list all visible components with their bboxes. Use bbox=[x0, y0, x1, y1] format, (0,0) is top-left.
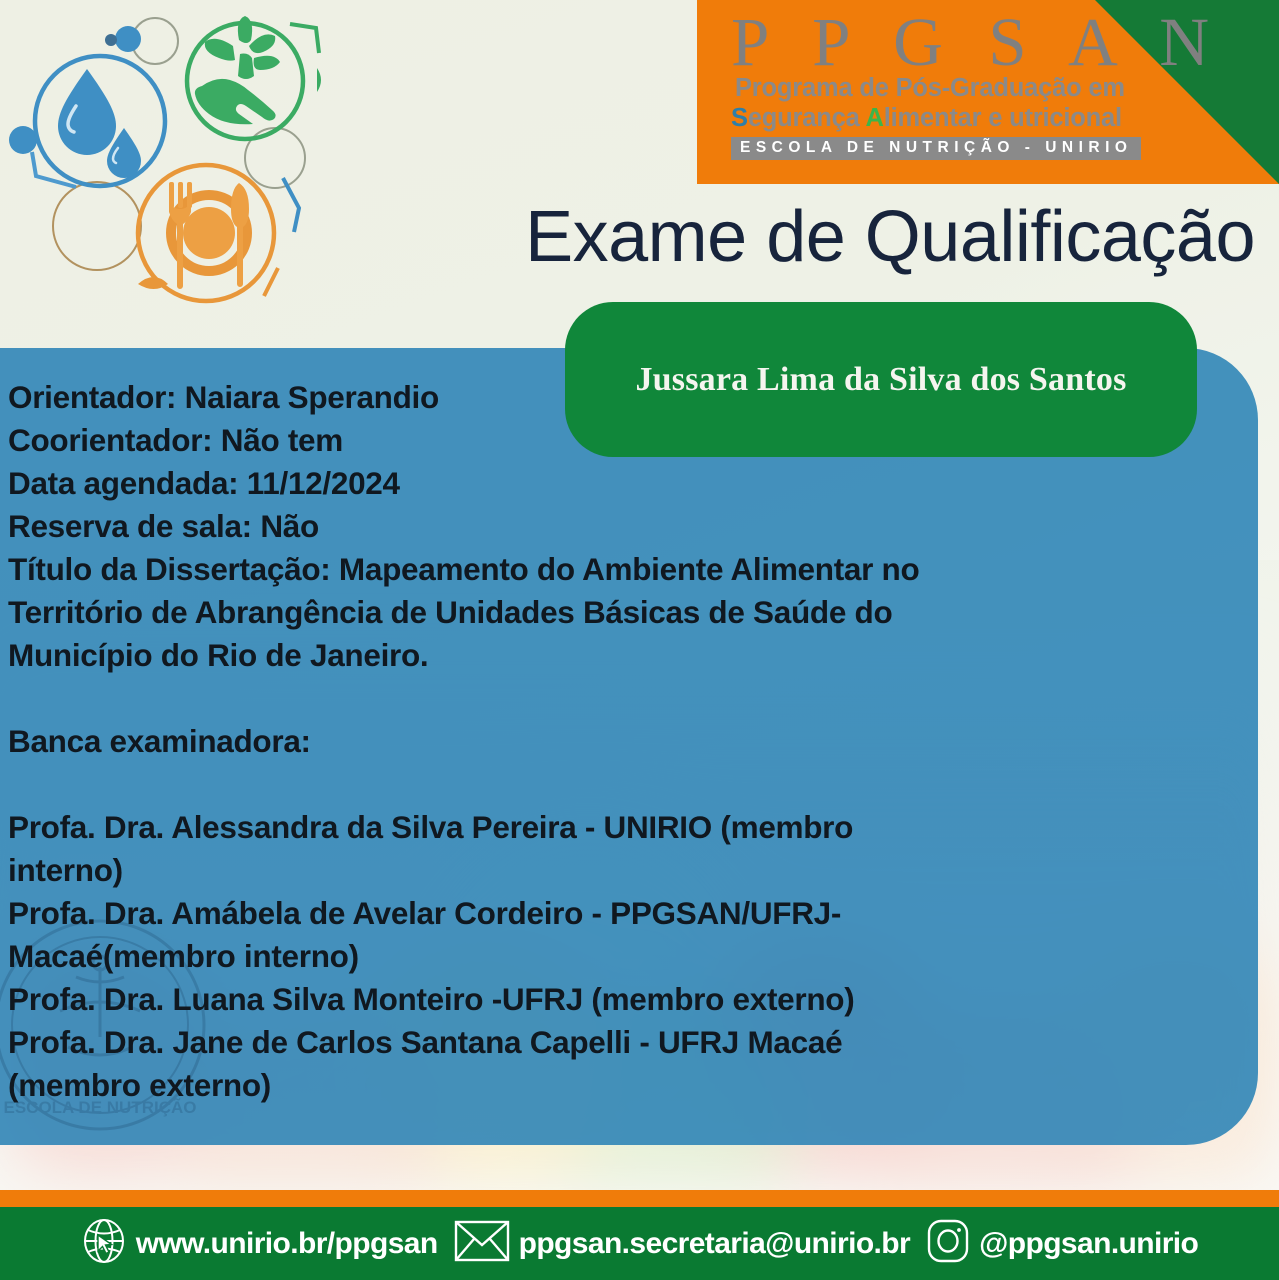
logo-a-letter: A bbox=[866, 104, 884, 132]
footer-orange-stripe bbox=[0, 1190, 1279, 1207]
board-member-line: Profa. Dra. Alessandra da Silva Pereira … bbox=[8, 806, 1038, 849]
dissertation-title-line-3: Município do Rio de Janeiro. bbox=[8, 634, 1038, 677]
board-heading: Banca examinadora: bbox=[8, 720, 1038, 763]
footer-instagram-item[interactable]: @ppgsan.unirio bbox=[926, 1218, 1198, 1269]
globe-cursor-icon bbox=[81, 1218, 127, 1269]
coadvisor-line: Coorientador: Não tem bbox=[8, 419, 1038, 462]
san-icons-svg bbox=[6, 6, 358, 324]
decor-dot-1 bbox=[115, 26, 141, 52]
scheduled-date-line: Data agendada: 11/12/2024 bbox=[8, 462, 1038, 505]
dissertation-title-line-2: Território de Abrangência de Unidades Bá… bbox=[8, 591, 1038, 634]
logo-school-bar: ESCOLA DE NUTRIÇÃO - UNIRIO bbox=[731, 137, 1141, 160]
logo-inner: P P G S A N Programa de Pós-Graduação em… bbox=[731, 6, 1151, 160]
water-drop-icon bbox=[58, 69, 116, 155]
board-member-line: Macaé(membro interno) bbox=[8, 935, 1038, 978]
ppgsan-logo-block: P P G S A N Programa de Pós-Graduação em… bbox=[697, 0, 1279, 184]
footer-website-text: www.unirio.br/ppgsan bbox=[136, 1227, 438, 1261]
footer-email-text: ppgsan.secretaria@unirio.br bbox=[519, 1227, 911, 1261]
logo-subject-line: Segurança Alimentar e utricional bbox=[731, 104, 1151, 133]
decor-circle-3 bbox=[53, 182, 141, 270]
board-member-line: interno) bbox=[8, 849, 1038, 892]
logo-program-line: Programa de Pós-Graduação em bbox=[735, 74, 1151, 103]
page-title: Exame de Qualificação bbox=[385, 196, 1255, 278]
logo-acronym: P P G S A N bbox=[731, 6, 1151, 78]
logo-alimentar-text: limentar e utricional bbox=[884, 104, 1122, 132]
board-member-line: Profa. Dra. Jane de Carlos Santana Capel… bbox=[8, 1021, 1038, 1064]
board-member-line: (membro externo) bbox=[8, 1064, 1038, 1107]
exam-details: Orientador: Naiara Sperandio Coorientado… bbox=[8, 376, 1038, 1107]
board-member-line: Profa. Dra. Amábela de Avelar Cordeiro -… bbox=[8, 892, 1038, 935]
logo-seguranca-text: egurança bbox=[748, 104, 866, 132]
hand-with-plant-icon bbox=[195, 16, 280, 124]
poster-canvas: P P G S A N Programa de Pós-Graduação em… bbox=[0, 0, 1279, 1280]
instagram-icon bbox=[926, 1218, 970, 1269]
logo-s-letter: S bbox=[731, 104, 748, 132]
room-reservation-line: Reserva de sala: Não bbox=[8, 505, 1038, 548]
board-member-line: Profa. Dra. Luana Silva Monteiro -UFRJ (… bbox=[8, 978, 1038, 1021]
decor-dot-3 bbox=[9, 126, 37, 154]
connector-line-4 bbox=[264, 268, 278, 296]
envelope-icon bbox=[454, 1219, 510, 1268]
footer-instagram-text: @ppgsan.unirio bbox=[979, 1227, 1198, 1261]
connector-line-2 bbox=[283, 178, 299, 232]
footer-email-item[interactable]: ppgsan.secretaria@unirio.br bbox=[454, 1219, 911, 1268]
footer-website-item[interactable]: www.unirio.br/ppgsan bbox=[81, 1218, 438, 1269]
plate-center bbox=[183, 207, 235, 259]
san-icon-cluster bbox=[6, 6, 358, 324]
text-spacer-1 bbox=[8, 677, 1038, 720]
decor-wedge bbox=[317, 68, 321, 92]
decor-dot-2 bbox=[105, 34, 117, 46]
footer-contact-bar: www.unirio.br/ppgsan ppgsan.secretaria@u… bbox=[0, 1207, 1279, 1280]
advisor-line: Orientador: Naiara Sperandio bbox=[8, 376, 1038, 419]
dissertation-title-line-1: Título da Dissertação: Mapeamento do Amb… bbox=[8, 548, 1038, 591]
text-spacer-2 bbox=[8, 763, 1038, 806]
